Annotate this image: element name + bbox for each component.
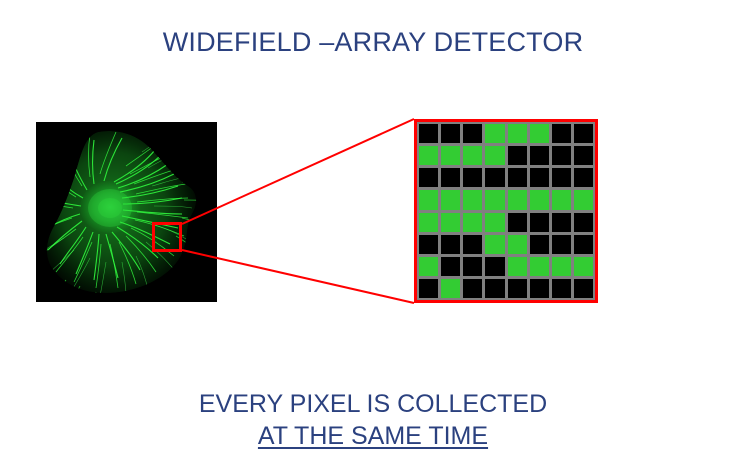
detector-pixel-r1-c4 (485, 124, 504, 143)
detector-pixel-r7-c6 (530, 257, 549, 276)
detector-pixel-r6-c2 (441, 235, 460, 254)
detector-pixel-r8-c1 (419, 279, 438, 298)
caption-line-1: EVERY PIXEL IS COLLECTED (0, 388, 746, 420)
region-of-interest-box[interactable] (152, 222, 182, 252)
cell-image-graphic (36, 122, 217, 302)
detector-pixel-r2-c6 (530, 146, 549, 165)
detector-pixel-r7-c1 (419, 257, 438, 276)
detector-pixel-r8-c5 (508, 279, 527, 298)
detector-pixel-r6-c7 (552, 235, 571, 254)
detector-pixel-r6-c3 (463, 235, 482, 254)
detector-pixel-r4-c1 (419, 190, 438, 209)
detector-pixel-r3-c3 (463, 168, 482, 187)
detector-pixel-r6-c6 (530, 235, 549, 254)
detector-pixel-r7-c7 (552, 257, 571, 276)
detector-pixel-r4-c3 (463, 190, 482, 209)
slide-caption: EVERY PIXEL IS COLLECTED AT THE SAME TIM… (0, 388, 746, 452)
detector-pixel-r7-c8 (574, 257, 593, 276)
page-title: WIDEFIELD –ARRAY DETECTOR (0, 27, 746, 58)
detector-pixel-r5-c6 (530, 213, 549, 232)
detector-pixel-r8-c6 (530, 279, 549, 298)
detector-pixel-r1-c5 (508, 124, 527, 143)
detector-pixel-r3-c5 (508, 168, 527, 187)
slide-canvas: WIDEFIELD –ARRAY DETECTOR (0, 0, 746, 458)
array-detector-grid (414, 119, 598, 303)
detector-pixel-r5-c8 (574, 213, 593, 232)
cell-microscopy-image (36, 122, 217, 302)
detector-pixel-r6-c5 (508, 235, 527, 254)
detector-pixel-r6-c4 (485, 235, 504, 254)
caption-line-2: AT THE SAME TIME (0, 420, 746, 452)
detector-pixel-r7-c4 (485, 257, 504, 276)
detector-pixel-r1-c8 (574, 124, 593, 143)
detector-pixel-r2-c4 (485, 146, 504, 165)
detector-pixel-r8-c8 (574, 279, 593, 298)
detector-pixel-r7-c5 (508, 257, 527, 276)
detector-pixel-r2-c7 (552, 146, 571, 165)
detector-pixel-r4-c7 (552, 190, 571, 209)
detector-pixel-r7-c3 (463, 257, 482, 276)
detector-pixel-r1-c3 (463, 124, 482, 143)
detector-pixel-r5-c1 (419, 213, 438, 232)
detector-pixel-r1-c1 (419, 124, 438, 143)
detector-pixel-r8-c2 (441, 279, 460, 298)
detector-pixel-r8-c7 (552, 279, 571, 298)
detector-pixel-r4-c2 (441, 190, 460, 209)
detector-pixel-r3-c7 (552, 168, 571, 187)
detector-pixel-r8-c3 (463, 279, 482, 298)
detector-pixel-r8-c4 (485, 279, 504, 298)
detector-pixel-r5-c3 (463, 213, 482, 232)
detector-pixel-r3-c4 (485, 168, 504, 187)
detector-pixel-r4-c4 (485, 190, 504, 209)
detector-pixel-r1-c6 (530, 124, 549, 143)
detector-pixel-r3-c6 (530, 168, 549, 187)
detector-pixel-r4-c6 (530, 190, 549, 209)
detector-pixel-r6-c8 (574, 235, 593, 254)
detector-pixel-r1-c7 (552, 124, 571, 143)
detector-pixel-r7-c2 (441, 257, 460, 276)
detector-pixel-r5-c7 (552, 213, 571, 232)
detector-pixel-r2-c8 (574, 146, 593, 165)
detector-pixel-r3-c1 (419, 168, 438, 187)
detector-pixel-r3-c2 (441, 168, 460, 187)
detector-pixel-r5-c4 (485, 213, 504, 232)
detector-pixel-r4-c8 (574, 190, 593, 209)
detector-pixel-r2-c2 (441, 146, 460, 165)
detector-pixel-r2-c1 (419, 146, 438, 165)
detector-pixel-r1-c2 (441, 124, 460, 143)
detector-pixel-r6-c1 (419, 235, 438, 254)
detector-pixel-r2-c5 (508, 146, 527, 165)
detector-pixel-r5-c5 (508, 213, 527, 232)
detector-pixel-r4-c5 (508, 190, 527, 209)
detector-pixel-r5-c2 (441, 213, 460, 232)
detector-pixel-r3-c8 (574, 168, 593, 187)
detector-pixel-r2-c3 (463, 146, 482, 165)
